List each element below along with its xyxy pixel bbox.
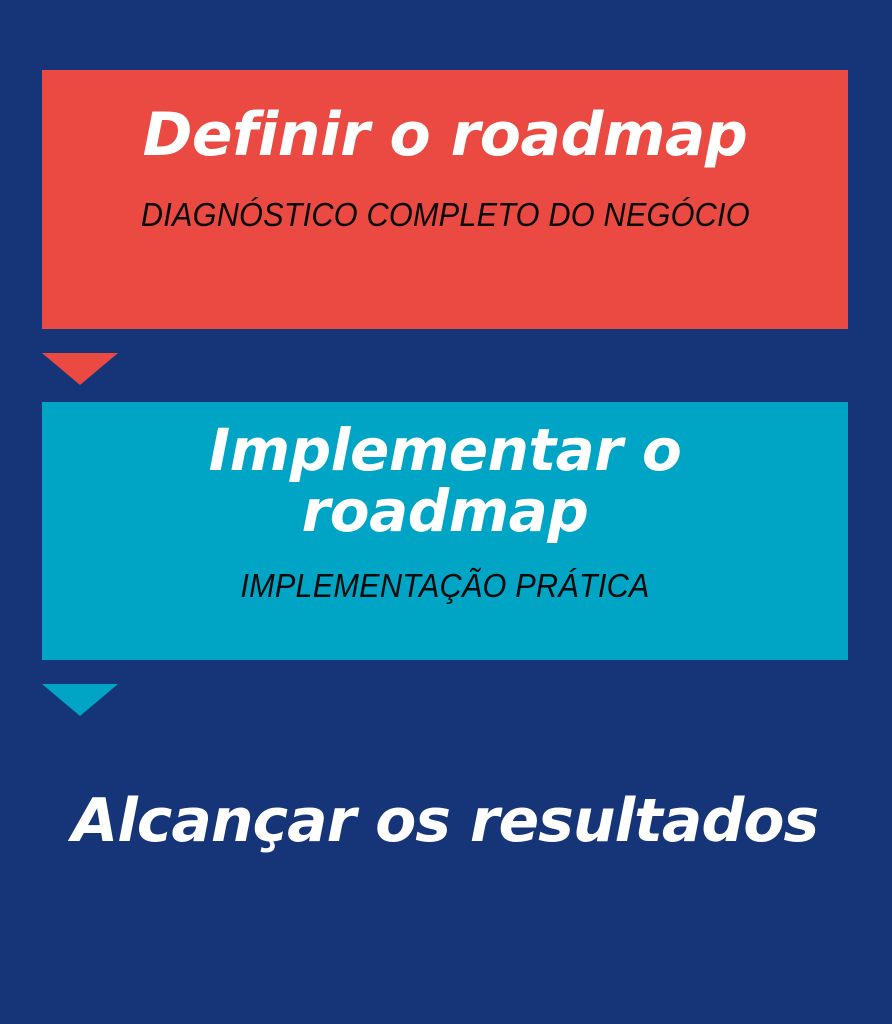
triangle-down-icon <box>42 684 118 716</box>
step-card-alcancar-resultados[interactable]: Alcançar os resultados <box>42 735 848 935</box>
triangle-down-icon <box>42 353 118 385</box>
step-card-implementar-roadmap[interactable]: Implementar o roadmap IMPLEMENTAÇÃO PRÁT… <box>42 402 848 660</box>
step-subtitle: DIAGNÓSTICO COMPLETO DO NEGÓCIO <box>141 197 750 233</box>
roadmap-infographic: Definir o roadmap DIAGNÓSTICO COMPLETO D… <box>0 0 892 1024</box>
step-subtitle: IMPLEMENTAÇÃO PRÁTICA <box>240 568 649 604</box>
step-title: Alcançar os resultados <box>72 790 818 853</box>
step-title: Implementar o roadmap <box>165 420 725 542</box>
step-card-definir-roadmap[interactable]: Definir o roadmap DIAGNÓSTICO COMPLETO D… <box>42 70 848 329</box>
step-title: Definir o roadmap <box>143 104 748 167</box>
